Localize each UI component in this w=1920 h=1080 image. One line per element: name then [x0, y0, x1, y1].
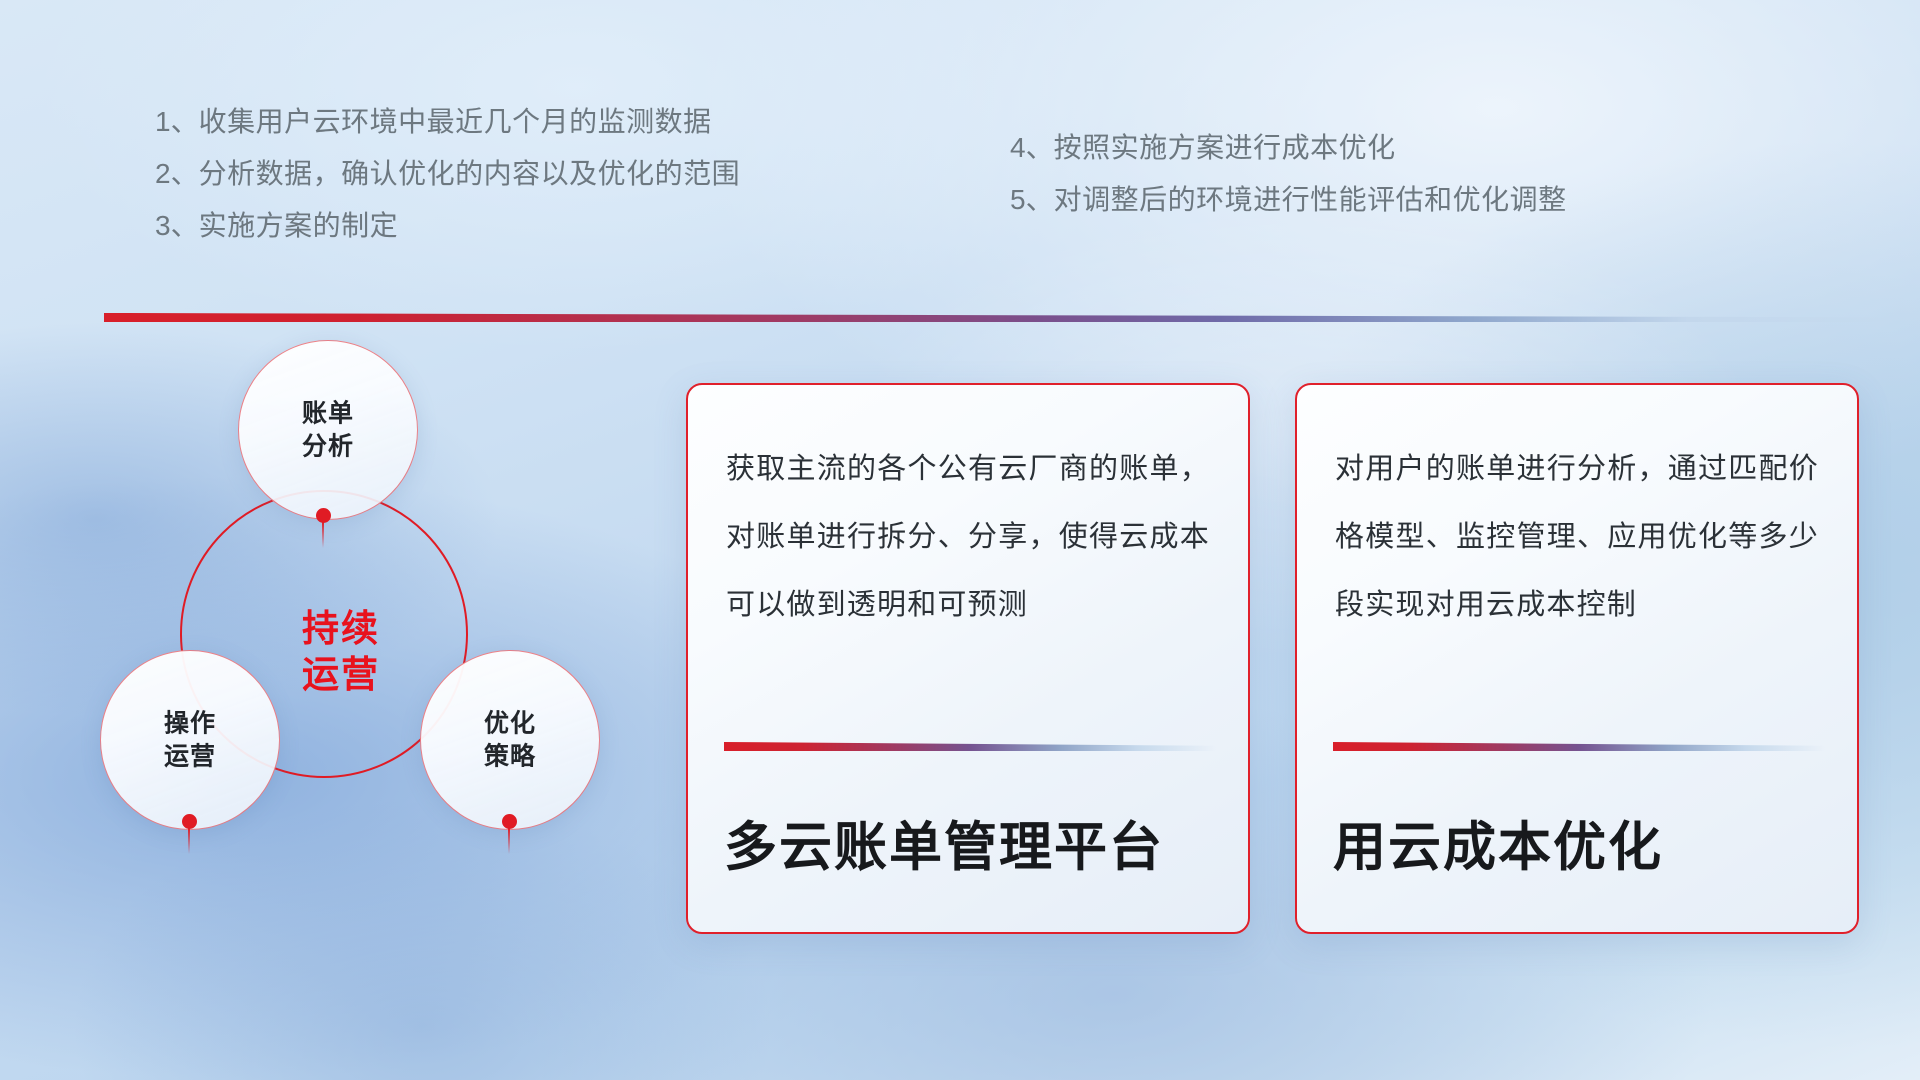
venn-node-stem-top [322, 522, 324, 548]
venn-label-center-line1: 持续 [302, 606, 380, 652]
venn-label-top: 账单 分析 [239, 398, 417, 463]
process-step-5: 5、对调整后的环境进行性能评估和优化调整 [1010, 178, 1567, 218]
step-text-4: 按照实施方案进行成本优化 [1054, 132, 1396, 163]
card-2-body: 对用户的账单进行分析，通过匹配价格模型、监控管理、应用优化等多少段实现对用云成本… [1335, 435, 1819, 639]
step-text-2: 分析数据，确认优化的内容以及优化的范围 [199, 158, 741, 189]
card-1-rule [724, 742, 1216, 751]
feature-card-multicloud-billing[interactable]: 获取主流的各个公有云厂商的账单，对账单进行拆分、分享，使得云成本可以做到透明和可… [686, 383, 1250, 934]
venn-node-stem-bottom-right [508, 828, 510, 854]
process-steps-list: 1、收集用户云环境中最近几个月的监测数据 2、分析数据，确认优化的内容以及优化的… [0, 0, 1920, 260]
step-text-3: 实施方案的制定 [199, 210, 399, 241]
venn-node-dot-top [316, 508, 331, 523]
venn-label-top-line1: 账单 [302, 400, 354, 428]
venn-label-br-line2: 策略 [484, 742, 536, 770]
feature-card-cost-optimization[interactable]: 对用户的账单进行分析，通过匹配价格模型、监控管理、应用优化等多少段实现对用云成本… [1295, 383, 1859, 934]
step-number-1: 1、 [155, 106, 199, 137]
process-step-4: 4、按照实施方案进行成本优化 [1010, 126, 1396, 166]
card-2-rule [1333, 742, 1825, 751]
process-step-3: 3、实施方案的制定 [155, 204, 398, 244]
venn-label-center: 持续 运营 [180, 490, 468, 778]
card-1-body: 获取主流的各个公有云厂商的账单，对账单进行拆分、分享，使得云成本可以做到透明和可… [726, 435, 1210, 639]
process-step-1: 1、收集用户云环境中最近几个月的监测数据 [155, 100, 712, 140]
step-number-4: 4、 [1010, 132, 1054, 163]
card-1-title: 多云账单管理平台 [724, 805, 1164, 881]
card-2-title: 用云成本优化 [1333, 805, 1663, 881]
venn-diagram: 账单 分析 操作 运营 优化 策略 持续 运营 [90, 350, 630, 950]
step-text-1: 收集用户云环境中最近几个月的监测数据 [199, 106, 712, 137]
venn-label-br-line1: 优化 [484, 710, 536, 738]
venn-label-center-line2: 运营 [302, 652, 380, 698]
venn-node-dot-bottom-left [182, 814, 197, 829]
venn-node-dot-bottom-right [502, 814, 517, 829]
process-step-2: 2、分析数据，确认优化的内容以及优化的范围 [155, 152, 740, 192]
venn-label-top-line2: 分析 [302, 432, 354, 460]
step-number-2: 2、 [155, 158, 199, 189]
step-number-5: 5、 [1010, 184, 1054, 215]
venn-node-stem-bottom-left [188, 828, 190, 854]
step-number-3: 3、 [155, 210, 199, 241]
step-text-5: 对调整后的环境进行性能评估和优化调整 [1054, 184, 1567, 215]
